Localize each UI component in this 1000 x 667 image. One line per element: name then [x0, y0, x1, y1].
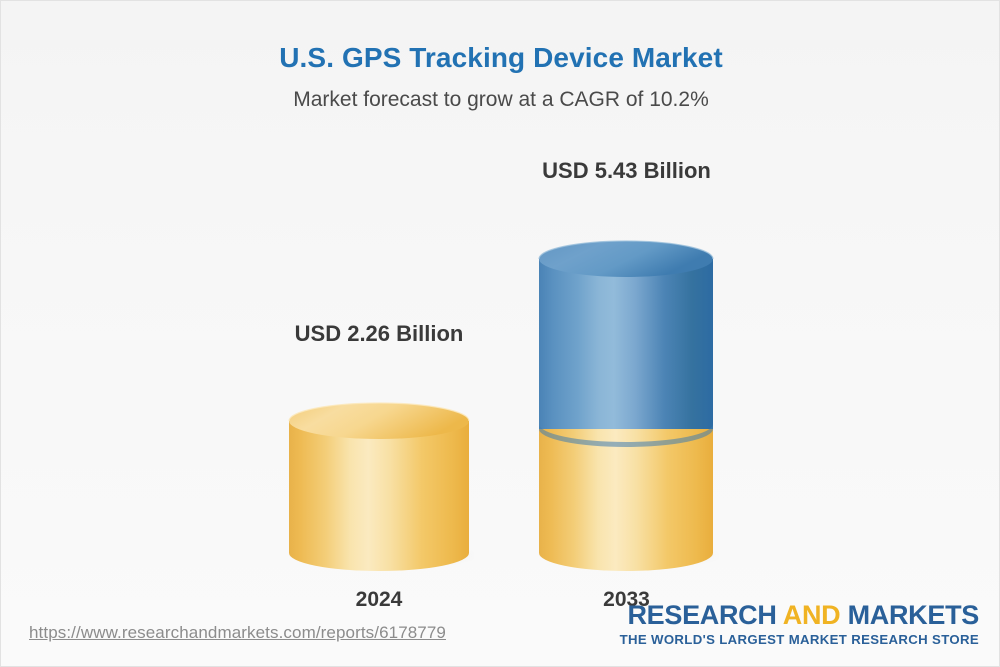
- brand-name-part1: RESEARCH: [627, 600, 782, 630]
- brand-name: RESEARCH AND MARKETS: [620, 600, 979, 630]
- chart-footer: https://www.researchandmarkets.com/repor…: [1, 576, 1000, 666]
- source-url-link[interactable]: https://www.researchandmarkets.com/repor…: [29, 623, 446, 643]
- page-title: U.S. GPS Tracking Device Market: [1, 1, 1000, 75]
- chart-plot-area: USD 2.26 Billion: [1, 141, 1000, 571]
- brand-name-part2: MARKETS: [840, 600, 979, 630]
- cylinder-bar-2024: [284, 181, 474, 571]
- chart-header: U.S. GPS Tracking Device Market Market f…: [1, 1, 1000, 113]
- brand-name-and: AND: [783, 600, 841, 630]
- cylinder-bar-2033: [534, 181, 719, 571]
- brand-logo: RESEARCH AND MARKETS THE WORLD'S LARGEST…: [620, 600, 979, 648]
- infographic-canvas: U.S. GPS Tracking Device Market Market f…: [0, 0, 1000, 667]
- brand-tagline: THE WORLD'S LARGEST MARKET RESEARCH STOR…: [620, 631, 979, 648]
- bar-group-2033: USD 5.43 Billion: [534, 141, 719, 571]
- chart-subtitle: Market forecast to grow at a CAGR of 10.…: [1, 75, 1000, 113]
- bar-group-2024: USD 2.26 Billion: [284, 141, 474, 571]
